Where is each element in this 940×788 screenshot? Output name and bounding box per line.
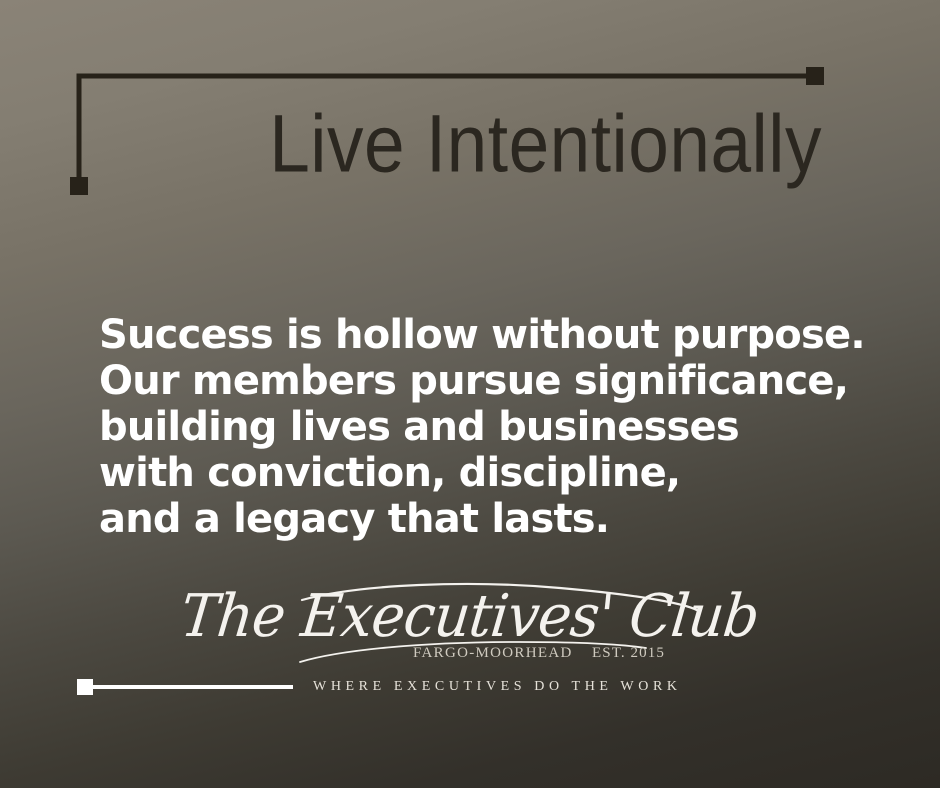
body-line: Our members pursue significance, (99, 358, 839, 404)
footer-rule-square (77, 679, 93, 695)
footer-rule-line (92, 685, 293, 689)
body-line: Success is hollow without purpose. (99, 312, 839, 358)
body-copy-block: Success is hollow without purpose. Our m… (99, 312, 839, 542)
bracket-end-square-right (806, 67, 824, 85)
logo-city-text: FARGO-MOORHEAD (413, 645, 573, 662)
logo-script-text: The Executives' Club (178, 580, 763, 654)
body-line: building lives and businesses (99, 404, 839, 450)
logo-established-text: EST. 2015 (592, 645, 665, 662)
logo-script-wrap: The Executives' Club (0, 582, 940, 652)
promotional-graphic-canvas: Live Intentionally Success is hollow wit… (0, 0, 940, 788)
body-line: and a legacy that lasts. (99, 496, 839, 542)
body-line: with conviction, discipline, (99, 450, 839, 496)
tagline-text: WHERE EXECUTIVES DO THE WORK (313, 679, 682, 695)
headline-text: Live Intentionally (0, 103, 822, 185)
